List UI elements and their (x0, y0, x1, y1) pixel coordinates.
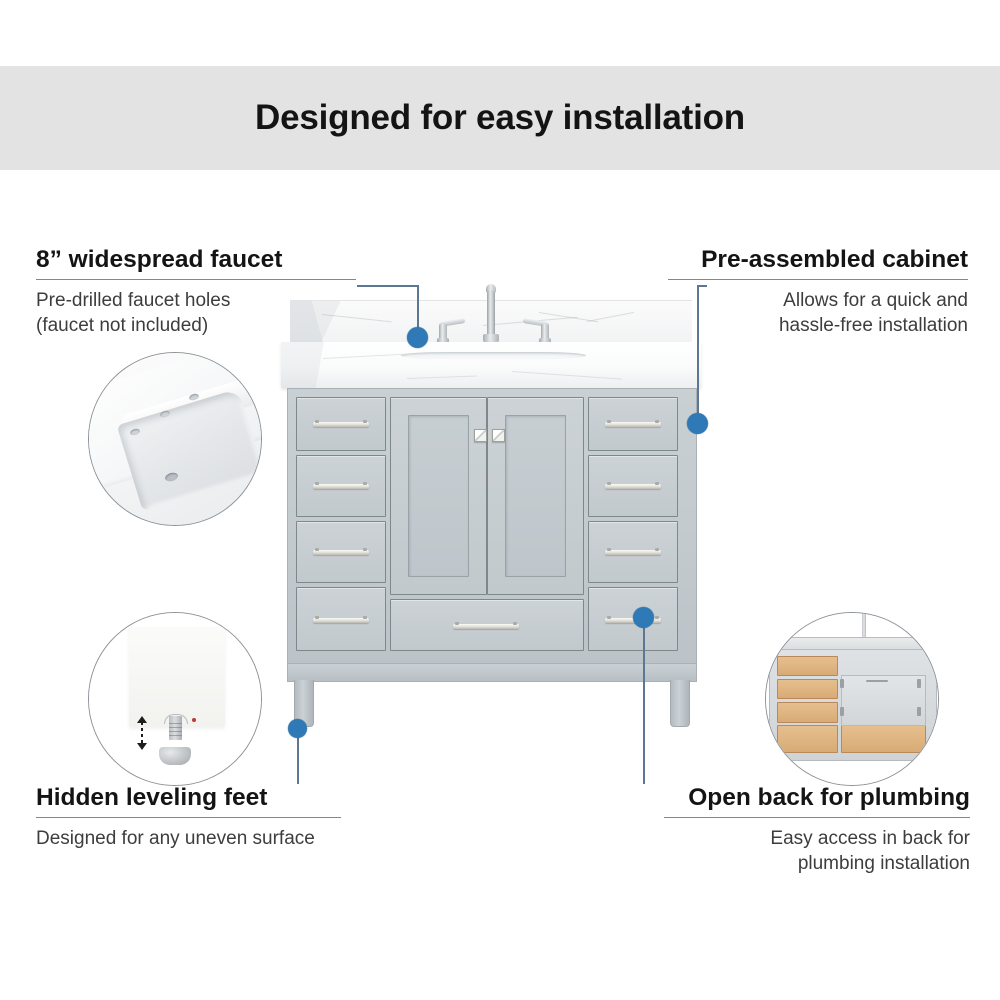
hinge-icon (917, 707, 921, 716)
drawer-box (777, 702, 838, 723)
undermount-sink-opening (401, 352, 586, 359)
cabinet-door-right (487, 397, 584, 595)
drawer-pull (313, 484, 369, 489)
door-knob-left (474, 429, 487, 442)
hinge-icon (840, 707, 844, 716)
callout-open-back-plumbing: Open back for plumbing Easy access in ba… (664, 784, 970, 877)
drawer-right-2 (588, 455, 678, 517)
callout-cabinet-rule (668, 279, 968, 280)
callout-cabinet-body: Allows for a quick and hassle-free insta… (668, 288, 968, 339)
callout-dot-cabinet (687, 413, 708, 434)
inset-photo-open-back-plumbing (765, 612, 939, 786)
drawer-pull (313, 422, 369, 427)
drawer-box (777, 725, 838, 753)
hinge-icon (840, 679, 844, 688)
up-down-arrow-icon (135, 716, 149, 750)
callout-plumbing-rule (664, 817, 970, 818)
callout-faucet-body: Pre-drilled faucet holes (faucet not inc… (36, 288, 356, 339)
callout-faucet-heading: 8” widespread faucet (36, 246, 356, 274)
callout-dot-feet (288, 719, 307, 738)
drawer-box (777, 656, 838, 677)
drawer-left-1 (296, 397, 386, 451)
page-title: Designed for easy installation (255, 98, 745, 138)
cabinet-door-rear (841, 675, 926, 725)
header-banner: Designed for easy installation (0, 66, 1000, 170)
leader-line-plumbing (643, 617, 645, 784)
marble-countertop (281, 342, 701, 388)
faucet-base (483, 334, 499, 342)
vanity-product-illustration (281, 300, 701, 740)
callout-feet-rule (36, 817, 341, 818)
faucet-handle-right (539, 318, 551, 342)
callout-dot-faucet (407, 327, 428, 348)
drawer-box (777, 679, 838, 700)
cabinet-apron (287, 663, 697, 682)
drawer-left-2 (296, 455, 386, 517)
drawer-left-3 (296, 521, 386, 583)
drawer-right-3 (588, 521, 678, 583)
door-handle-rear (866, 680, 888, 682)
callout-faucet: 8” widespread faucet Pre-drilled faucet … (36, 246, 356, 339)
callout-cabinet: Pre-assembled cabinet Allows for a quick… (668, 246, 968, 339)
drawer-center-bottom (390, 599, 584, 651)
drawer-pull (453, 624, 519, 629)
door-knob-right (492, 429, 505, 442)
drawer-pull (605, 422, 661, 427)
drawer-right-1 (588, 397, 678, 451)
drawer-box (841, 725, 926, 753)
faucet-handle-left (437, 318, 449, 342)
callout-feet-heading: Hidden leveling feet (36, 784, 341, 812)
callout-feet-body: Designed for any uneven surface (36, 826, 341, 851)
callout-plumbing-heading: Open back for plumbing (664, 784, 970, 812)
callout-plumbing-body: Easy access in back for plumbing install… (664, 826, 970, 877)
drawer-pull (605, 484, 661, 489)
callout-faucet-rule (36, 279, 356, 280)
inset-photo-leveling-foot (88, 612, 262, 786)
cabinet-door-left (390, 397, 487, 595)
cabinet-leg-right (670, 680, 690, 727)
inset-photo-sink-pre-drilled-holes (88, 352, 262, 526)
drawer-pull (313, 618, 369, 623)
callout-dot-plumbing (633, 607, 654, 628)
drawer-pull (605, 550, 661, 555)
drawer-pull (313, 550, 369, 555)
leader-line-faucet-horizontal (357, 285, 418, 287)
callout-leveling-feet: Hidden leveling feet Designed for any un… (36, 784, 341, 851)
drawer-left-4 (296, 587, 386, 651)
callout-cabinet-heading: Pre-assembled cabinet (668, 246, 968, 274)
hinge-icon (917, 679, 921, 688)
